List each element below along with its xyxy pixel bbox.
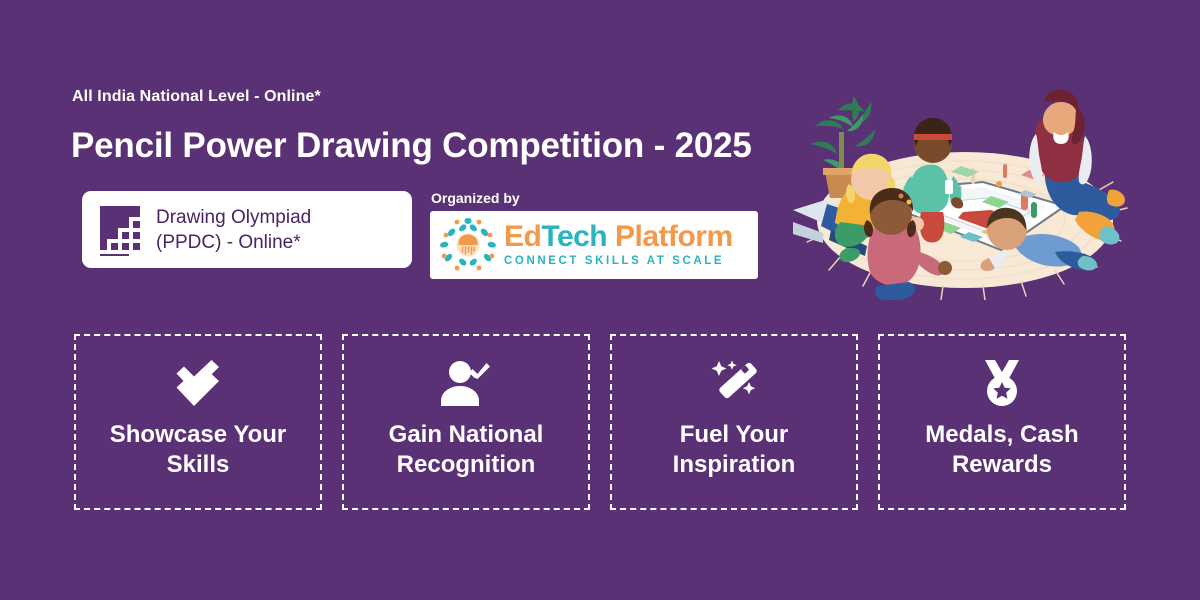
people-circle-sun-icon [438,216,498,274]
olympiad-badge-text: Drawing Olympiad (PPDC) - Online* [156,205,311,255]
medal-star-icon [977,360,1027,406]
feature-item-medals-rewards[interactable]: Medals, Cash Rewards [878,334,1126,510]
double-check-icon [173,360,223,406]
feature-item-fuel-inspiration[interactable]: Fuel Your Inspiration [610,334,858,510]
feature-item-national-recognition[interactable]: Gain National Recognition [342,334,590,510]
stepped-blocks-logo-icon [98,204,142,256]
feature-label: Gain National Recognition [361,420,571,480]
feature-label: Fuel Your Inspiration [629,420,839,480]
feature-label: Medals, Cash Rewards [897,420,1107,480]
feature-label: Showcase Your Skills [93,420,303,480]
feature-item-showcase-skills[interactable]: Showcase Your Skills [74,334,322,510]
eyebrow-text: All India National Level - Online* [72,88,321,106]
organizer-name-part-3: Platform [607,220,733,253]
organized-by-label: Organized by [431,190,520,206]
olympiad-badge-card[interactable]: Drawing Olympiad (PPDC) - Online* [82,191,412,268]
organizer-wordmark: EdTech Platform CONNECT SKILLS AT SCALE [504,221,733,269]
olympiad-line-1: Drawing Olympiad [156,205,311,230]
olympiad-line-2: (PPDC) - Online* [156,230,311,255]
organizer-name-part-1: Ed [504,220,541,253]
page-title: Pencil Power Drawing Competition - 2025 [71,126,752,166]
user-check-icon [441,360,491,406]
promo-banner: All India National Level - Online* Penci… [0,0,1200,600]
children-playing-board-game-on-rug-illustration [793,72,1133,300]
organizer-logo-card[interactable]: EdTech Platform CONNECT SKILLS AT SCALE [430,211,758,279]
organizer-name: EdTech Platform [504,221,733,253]
organizer-tagline: CONNECT SKILLS AT SCALE [504,253,733,269]
feature-list: Showcase Your Skills Gain National Recog… [74,334,1126,510]
magic-wand-icon [709,360,759,406]
organizer-name-part-2: Tech [541,220,607,253]
